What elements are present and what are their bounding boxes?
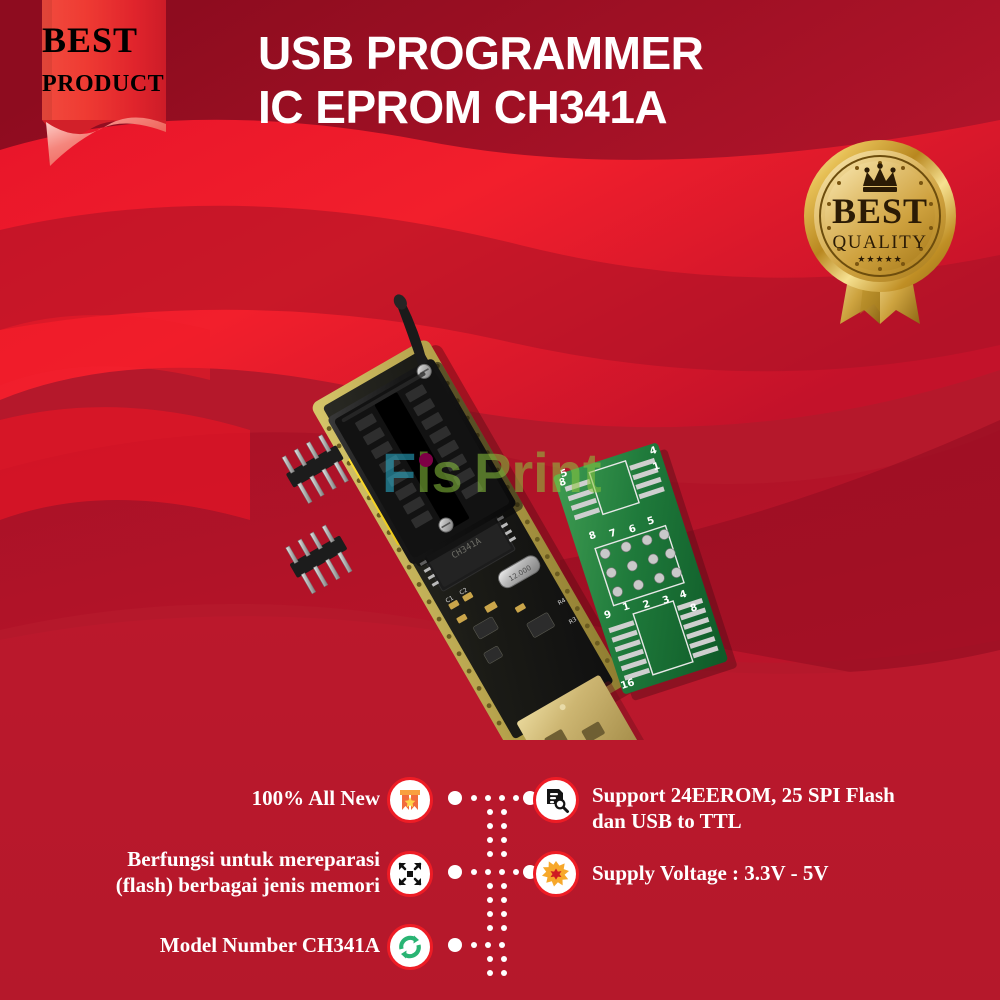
expand-arrows-icon	[387, 851, 433, 897]
feature-left-1-line-0: Berfungsi untuk mereparasi	[40, 846, 380, 872]
feature-right-1-text: Supply Voltage : 3.3V - 5V	[592, 860, 982, 886]
feature-right-1-line-0: Supply Voltage : 3.3V - 5V	[592, 860, 982, 886]
svg-text:F: F	[382, 441, 416, 504]
feature-left-2-line-0: Model Number CH341A	[40, 932, 380, 958]
badge-best-text: BEST	[832, 191, 928, 231]
ribbon-best-label: BEST	[42, 22, 166, 58]
badge-quality-text: QUALITY	[833, 232, 928, 253]
feature-list: 100% All New Berfungsi untuk mereparasi …	[0, 760, 1000, 990]
ribbon-product-label: PRODUCT	[42, 72, 166, 96]
feature-left-2-text: Model Number CH341A	[40, 932, 380, 958]
badge-stars: ★★★★★	[857, 255, 902, 265]
feature-left-1-line-1: (flash) berbagai jenis memori	[40, 872, 380, 898]
feature-right-0-line-0: Support 24EEROM, 25 SPI Flash	[592, 782, 982, 808]
best-quality-badge: BEST QUALITY ★★★★★	[800, 138, 960, 328]
document-search-icon	[533, 777, 579, 823]
feature-left-0-line-0: 100% All New	[40, 785, 380, 811]
svg-text:Print: Print	[474, 441, 602, 504]
feature-left-1-text: Berfungsi untuk mereparasi (flash) berba…	[40, 846, 380, 899]
svg-text:is: is	[416, 441, 463, 504]
fisprint-watermark: F is Print	[382, 440, 632, 510]
feature-right-0-text: Support 24EEROM, 25 SPI Flash dan USB to…	[592, 782, 982, 835]
product-poster: BEST PRODUCT USB PROGRAMMER IC EPROM CH3…	[0, 0, 1000, 1000]
refresh-icon	[387, 924, 433, 970]
burst-icon	[533, 851, 579, 897]
headline-line-2: IC EPROM CH341A	[258, 80, 818, 134]
page-title: USB PROGRAMMER IC EPROM CH341A	[258, 26, 818, 135]
feature-right-0-line-1: dan USB to TTL	[592, 808, 982, 834]
feature-left-0-text: 100% All New	[40, 785, 380, 811]
headline-line-1: USB PROGRAMMER	[258, 26, 818, 80]
bookmark-star-icon	[387, 777, 433, 823]
